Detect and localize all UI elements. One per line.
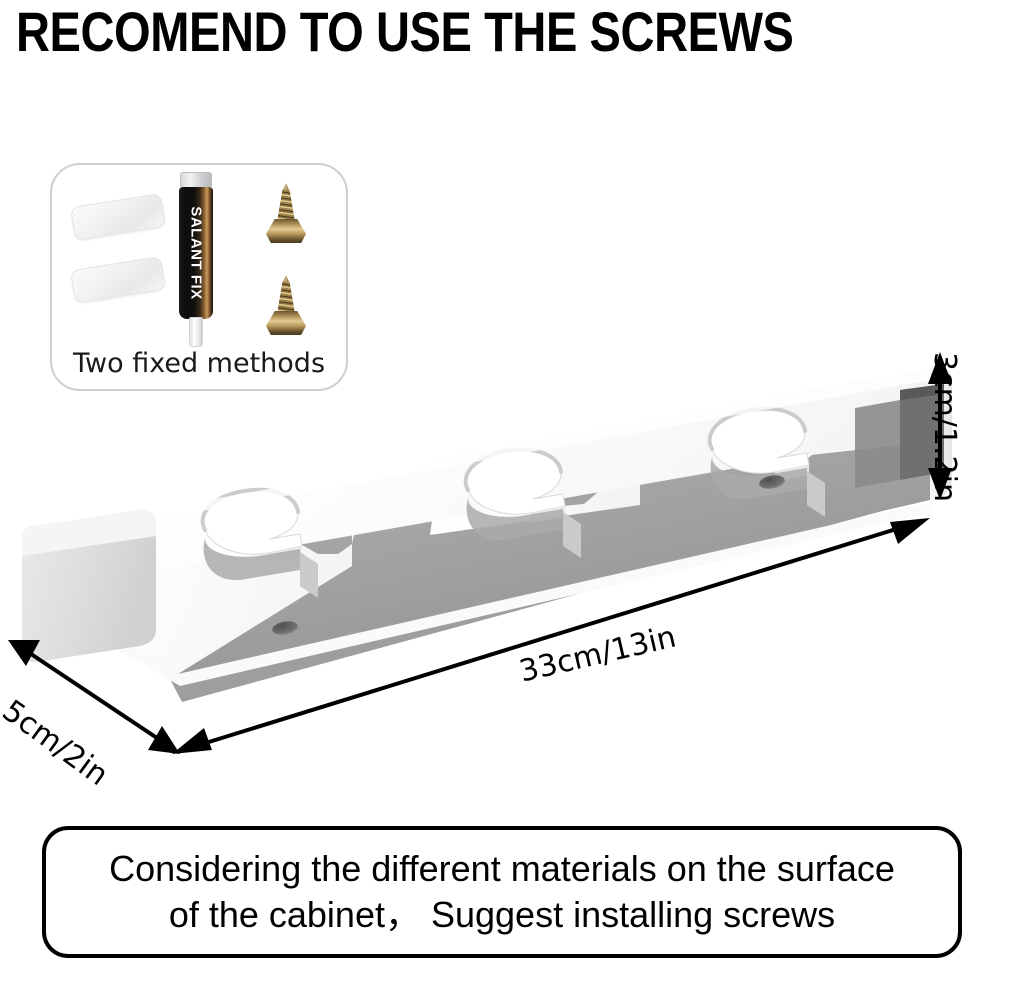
glue-tube-icon: SALANT FIX bbox=[178, 172, 214, 352]
screw-head bbox=[266, 219, 306, 243]
glue-tube-label: SALANT FIX bbox=[188, 206, 205, 299]
screw-icon bbox=[264, 275, 308, 337]
adhesive-strip-icon bbox=[70, 256, 166, 304]
product-left-end-cap bbox=[22, 510, 156, 662]
adhesive-strip-icon bbox=[70, 193, 166, 241]
dimension-label-height: 3cm/1.2in bbox=[927, 352, 962, 502]
glue-tube-crimp bbox=[180, 172, 212, 188]
product-illustration bbox=[0, 330, 1017, 800]
screw-icon bbox=[264, 183, 308, 245]
page-title: RECOMEND TO USE THE SCREWS bbox=[16, 2, 794, 62]
caption-line-1: Considering the different materials on t… bbox=[109, 846, 895, 892]
caption-line-2: of the cabinet， Suggest installing screw… bbox=[169, 892, 835, 938]
screw-thread bbox=[277, 282, 295, 314]
glue-tube-body: SALANT FIX bbox=[179, 187, 213, 319]
screw-thread bbox=[277, 190, 295, 222]
caption-box: Considering the different materials on t… bbox=[42, 826, 962, 958]
